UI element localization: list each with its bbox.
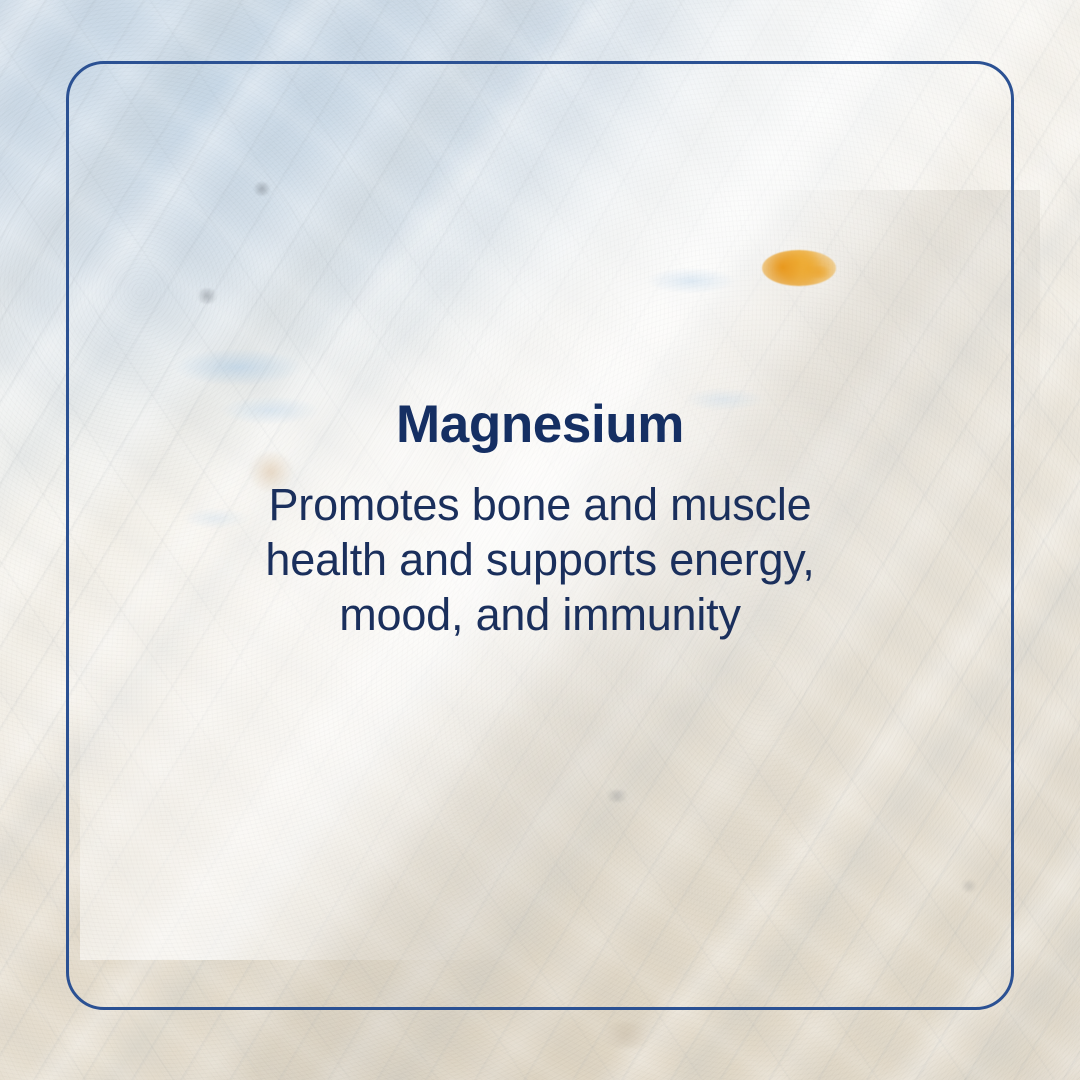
grey-speck-icon [604,790,630,802]
card-text-block: Magnesium Promotes bone and muscle healt… [0,398,1080,642]
grey-speck-icon [196,288,218,304]
grey-speck-icon [960,880,978,892]
tan-speck-icon [596,1022,654,1048]
grey-speck-icon [252,182,272,196]
ochre-inclusion-trail-icon [806,266,832,278]
page-title: Magnesium [110,398,970,451]
card-subtitle: Promotes bone and muscle health and supp… [110,477,970,642]
ochre-inclusion-icon [762,250,836,286]
magnesium-info-card: Magnesium Promotes bone and muscle healt… [0,0,1080,1080]
